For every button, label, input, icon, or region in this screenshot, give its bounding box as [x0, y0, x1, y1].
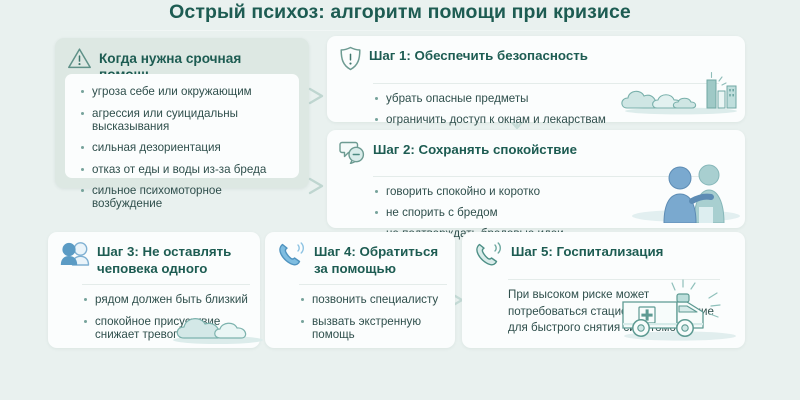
- infographic-canvas: Острый психоз: алгоритм помощи при кризи…: [0, 0, 800, 400]
- step-2-title: Шаг 2: Сохранять спокойствие: [373, 140, 577, 158]
- step-1-divider: [373, 83, 719, 84]
- list-item: вызвать экстренную помощь: [299, 315, 443, 341]
- list-item: убрать опасные предметы: [373, 92, 733, 105]
- step-3-title: Шаг 3: Не оставлять чеповека одного: [97, 242, 231, 277]
- step-1-header: Шаг 1: Обеспечить безопасность: [339, 46, 733, 76]
- warning-card: Когда нужна срочная помощь угроза себе и…: [55, 38, 309, 188]
- two-persons-icon: [60, 242, 90, 271]
- step-3-items: рядом должен быть близкий спокойное прис…: [82, 293, 248, 341]
- step-2-card: Шаг 2: Сохранять спокойствие говорить сп…: [327, 130, 745, 228]
- list-item: не спорить с бредом: [373, 206, 733, 219]
- step-5-divider: [508, 279, 720, 280]
- step-3-header: Шаг 3: Не оставлять чеповека одного: [60, 242, 248, 277]
- step-5-title: Шаг 5: Госпитализация: [511, 242, 663, 260]
- step-4-header: Шаг 4: Обратиться за помощью: [277, 242, 443, 277]
- step-2-header: Шаг 2: Сохранять спокойствие: [339, 140, 733, 169]
- step-2-divider: [373, 176, 719, 177]
- warning-triangle-icon: [67, 47, 92, 75]
- phone-signal-icon: [277, 242, 307, 272]
- list-item: отказ от еды и воды из-за бреда: [79, 163, 289, 176]
- speech-bubbles-icon: [339, 140, 366, 169]
- list-item: ограничить доступ к окнам и лекарствам: [373, 113, 733, 126]
- shield-exclamation-icon: [339, 46, 362, 76]
- list-item: позвонить специалисту: [299, 293, 443, 306]
- list-item: агрессия или суицидальны высказывания: [79, 107, 289, 133]
- step-3-divider: [82, 284, 250, 285]
- step-5-header: Шаг 5: Госпитализация: [474, 242, 733, 272]
- list-item: угроза себе или окружающим: [79, 85, 289, 98]
- step-5-body: При высоком риске может потребоваться ст…: [508, 287, 721, 337]
- step-3-title-line1: Шаг 3: Не оставлять: [97, 244, 231, 259]
- step-4-items: позвонить специалисту вызвать экстренную…: [299, 293, 443, 341]
- list-item: сильное психомоторное возбуждение: [79, 184, 289, 210]
- step-4-title: Шаг 4: Обратиться за помощью: [314, 242, 438, 277]
- step-1-items: убрать опасные предметы ограничить досту…: [373, 92, 733, 126]
- warning-items: угроза себе или окружающим агрессия или …: [79, 85, 289, 210]
- step-4-card: Шаг 4: Обратиться за помощью позвонить с…: [265, 232, 455, 348]
- step-5-card: Шаг 5: Госпитализация При высоком риске …: [462, 232, 745, 348]
- warning-list-box: угроза себе или окружающим агрессия или …: [65, 74, 299, 178]
- title-divider: [55, 30, 745, 31]
- step-4-title-line1: Шаг 4: Обратиться: [314, 244, 438, 259]
- page-title: Острый психоз: алгоритм помощи при кризи…: [0, 1, 800, 24]
- step-3-title-line2: чеповека одного: [97, 261, 207, 276]
- list-item: спокойное присусттвие снижает тревогу: [82, 315, 235, 341]
- list-item: говорить спокойно и коротко: [373, 185, 733, 198]
- step-4-title-line2: за помощью: [314, 261, 396, 276]
- step-4-divider: [299, 284, 447, 285]
- step-3-card: Шаг 3: Не оставлять чеповека одного рядо…: [48, 232, 260, 348]
- list-item: сильная дезориентация: [79, 141, 289, 154]
- step-1-card: Шаг 1: Обеспечить безопасность убрать оп…: [327, 36, 745, 122]
- list-item: рядом должен быть близкий: [82, 293, 248, 306]
- phone-signal-icon: [474, 242, 504, 272]
- step-1-title: Шаг 1: Обеспечить безопасность: [369, 46, 588, 64]
